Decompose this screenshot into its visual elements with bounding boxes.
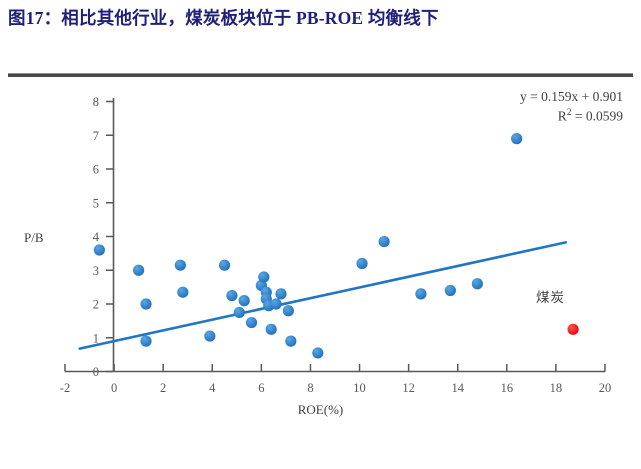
y-tick-label: 8 (93, 95, 99, 109)
regression-annotation: y = 0.159x + 0.901 R2 = 0.0599 (520, 88, 623, 125)
scatter-point (511, 133, 522, 144)
scatter-point (246, 317, 257, 328)
scatter-point (415, 288, 426, 299)
figure-title-block: 图17：相比其他行业，煤炭板块位于 PB-ROE 均衡线下 (8, 6, 633, 31)
scatter-point (472, 278, 483, 289)
x-tick-label: 4 (209, 381, 216, 395)
y-tick-label: 6 (93, 163, 99, 177)
highlight-series-label: 煤炭 (536, 286, 565, 306)
x-tick-label: 10 (353, 381, 366, 395)
scatter-point (378, 236, 389, 247)
x-axis-ticks (65, 364, 605, 372)
trend-line (80, 242, 566, 348)
x-tick-label: 16 (501, 381, 514, 395)
scatter-point (266, 324, 277, 335)
x-tick-label: 18 (550, 381, 563, 395)
scatter-point (312, 347, 323, 358)
x-tick-label: 0 (111, 381, 117, 395)
y-tick-label: 5 (93, 196, 99, 210)
scatter-point (445, 285, 456, 296)
figure-root: 图17：相比其他行业，煤炭板块位于 PB-ROE 均衡线下 012345678 … (0, 0, 641, 469)
page-title: 图17：相比其他行业，煤炭板块位于 PB-ROE 均衡线下 (8, 6, 633, 31)
scatter-point (219, 260, 230, 271)
title-divider (8, 73, 633, 77)
x-tick-label: 6 (258, 381, 264, 395)
scatter-point (356, 258, 367, 269)
scatter-point (204, 330, 215, 341)
y-tick-label: 0 (93, 365, 99, 379)
scatter-point (258, 271, 269, 282)
scatter-chart: 012345678 -202468101214161820 y = 0.159x… (0, 80, 641, 420)
scatter-point (567, 324, 578, 335)
scatter-point (285, 336, 296, 347)
chart-canvas: 012345678 -202468101214161820 (0, 80, 641, 420)
scatter-point (175, 260, 186, 271)
scatter-point (239, 295, 250, 306)
y-axis-ticks (106, 102, 114, 372)
scatter-point (133, 265, 144, 276)
x-tick-label: 14 (451, 381, 464, 395)
r-squared-value: = 0.0599 (572, 109, 624, 124)
y-tick-label: 4 (93, 230, 100, 244)
x-axis-title: ROE(%) (0, 402, 641, 418)
y-tick-label: 3 (93, 264, 99, 278)
x-tick-label: 8 (307, 381, 313, 395)
scatter-point (234, 307, 245, 318)
scatter-point (140, 298, 151, 309)
scatter-point (275, 288, 286, 299)
scatter-point (94, 244, 105, 255)
y-axis-title: P/B (24, 230, 44, 246)
scatter-point (140, 336, 151, 347)
scatter-point (270, 298, 281, 309)
scatter-point (177, 287, 188, 298)
x-axis-tick-labels: -202468101214161820 (60, 381, 611, 395)
scatter-point (226, 290, 237, 301)
data-points (94, 133, 579, 359)
y-tick-label: 1 (93, 331, 99, 345)
scatter-point (283, 305, 294, 316)
regression-equation: y = 0.159x + 0.901 (520, 88, 623, 105)
axis-lines (65, 98, 605, 372)
x-tick-label: 20 (599, 381, 612, 395)
y-axis-tick-labels: 012345678 (93, 95, 100, 379)
r-squared: R2 = 0.0599 (520, 105, 623, 125)
y-tick-label: 2 (93, 298, 99, 312)
r-squared-prefix: R (558, 109, 567, 124)
y-tick-label: 7 (93, 129, 99, 143)
x-tick-label: -2 (60, 381, 70, 395)
x-tick-label: 2 (160, 381, 166, 395)
x-tick-label: 12 (402, 381, 415, 395)
